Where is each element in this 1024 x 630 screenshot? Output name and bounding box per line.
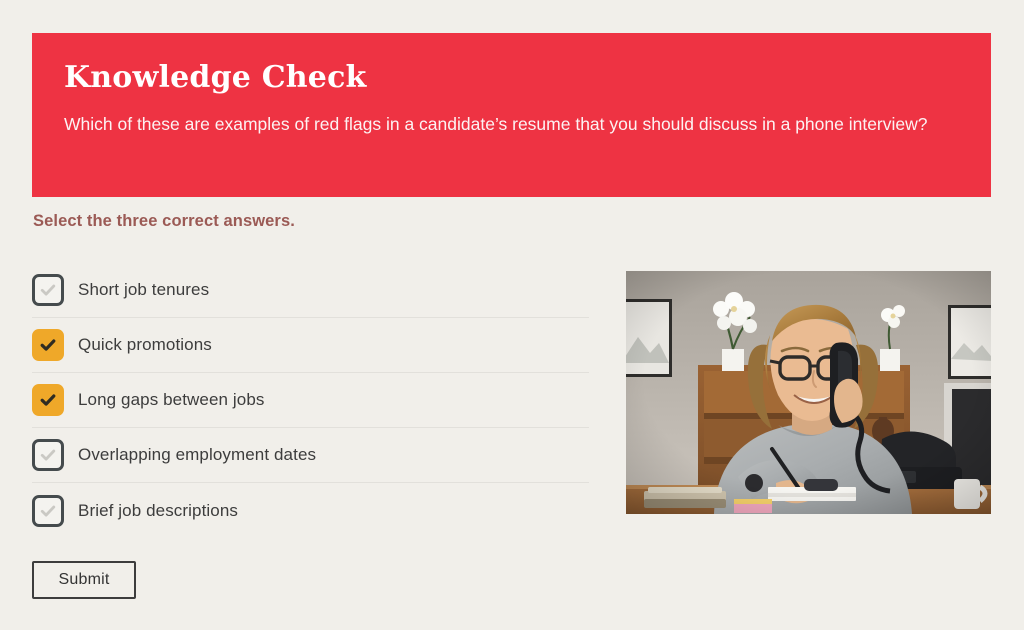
option-label: Overlapping employment dates: [78, 444, 316, 466]
illustration-photo: [626, 271, 991, 514]
checkbox-long-gaps-between-jobs[interactable]: [32, 384, 64, 416]
knowledge-check-page: Knowledge Check Which of these are examp…: [0, 0, 1024, 630]
knowledge-check-banner: Knowledge Check Which of these are examp…: [32, 33, 991, 197]
options-list: Short job tenures Quick promotions Long …: [32, 263, 589, 538]
page-title: Knowledge Check: [64, 61, 959, 95]
checkmark-icon: [39, 502, 57, 520]
checkbox-overlapping-employment-dates[interactable]: [32, 439, 64, 471]
office-phone-call-photo: [626, 271, 991, 514]
option-label: Long gaps between jobs: [78, 389, 265, 411]
checkmark-icon: [39, 391, 57, 409]
option-row[interactable]: Brief job descriptions: [32, 483, 589, 538]
option-row[interactable]: Overlapping employment dates: [32, 428, 589, 483]
checkbox-brief-job-descriptions[interactable]: [32, 495, 64, 527]
option-row[interactable]: Long gaps between jobs: [32, 373, 589, 428]
option-row[interactable]: Quick promotions: [32, 318, 589, 373]
option-row[interactable]: Short job tenures: [32, 263, 589, 318]
checkbox-short-job-tenures[interactable]: [32, 274, 64, 306]
checkmark-icon: [39, 281, 57, 299]
option-label: Quick promotions: [78, 334, 212, 356]
submit-button[interactable]: Submit: [32, 561, 136, 599]
instruction-text: Select the three correct answers.: [33, 209, 295, 233]
question-text: Which of these are examples of red flags…: [64, 111, 954, 137]
checkbox-quick-promotions[interactable]: [32, 329, 64, 361]
option-label: Short job tenures: [78, 279, 209, 301]
checkmark-icon: [39, 446, 57, 464]
option-label: Brief job descriptions: [78, 500, 238, 522]
checkmark-icon: [39, 336, 57, 354]
